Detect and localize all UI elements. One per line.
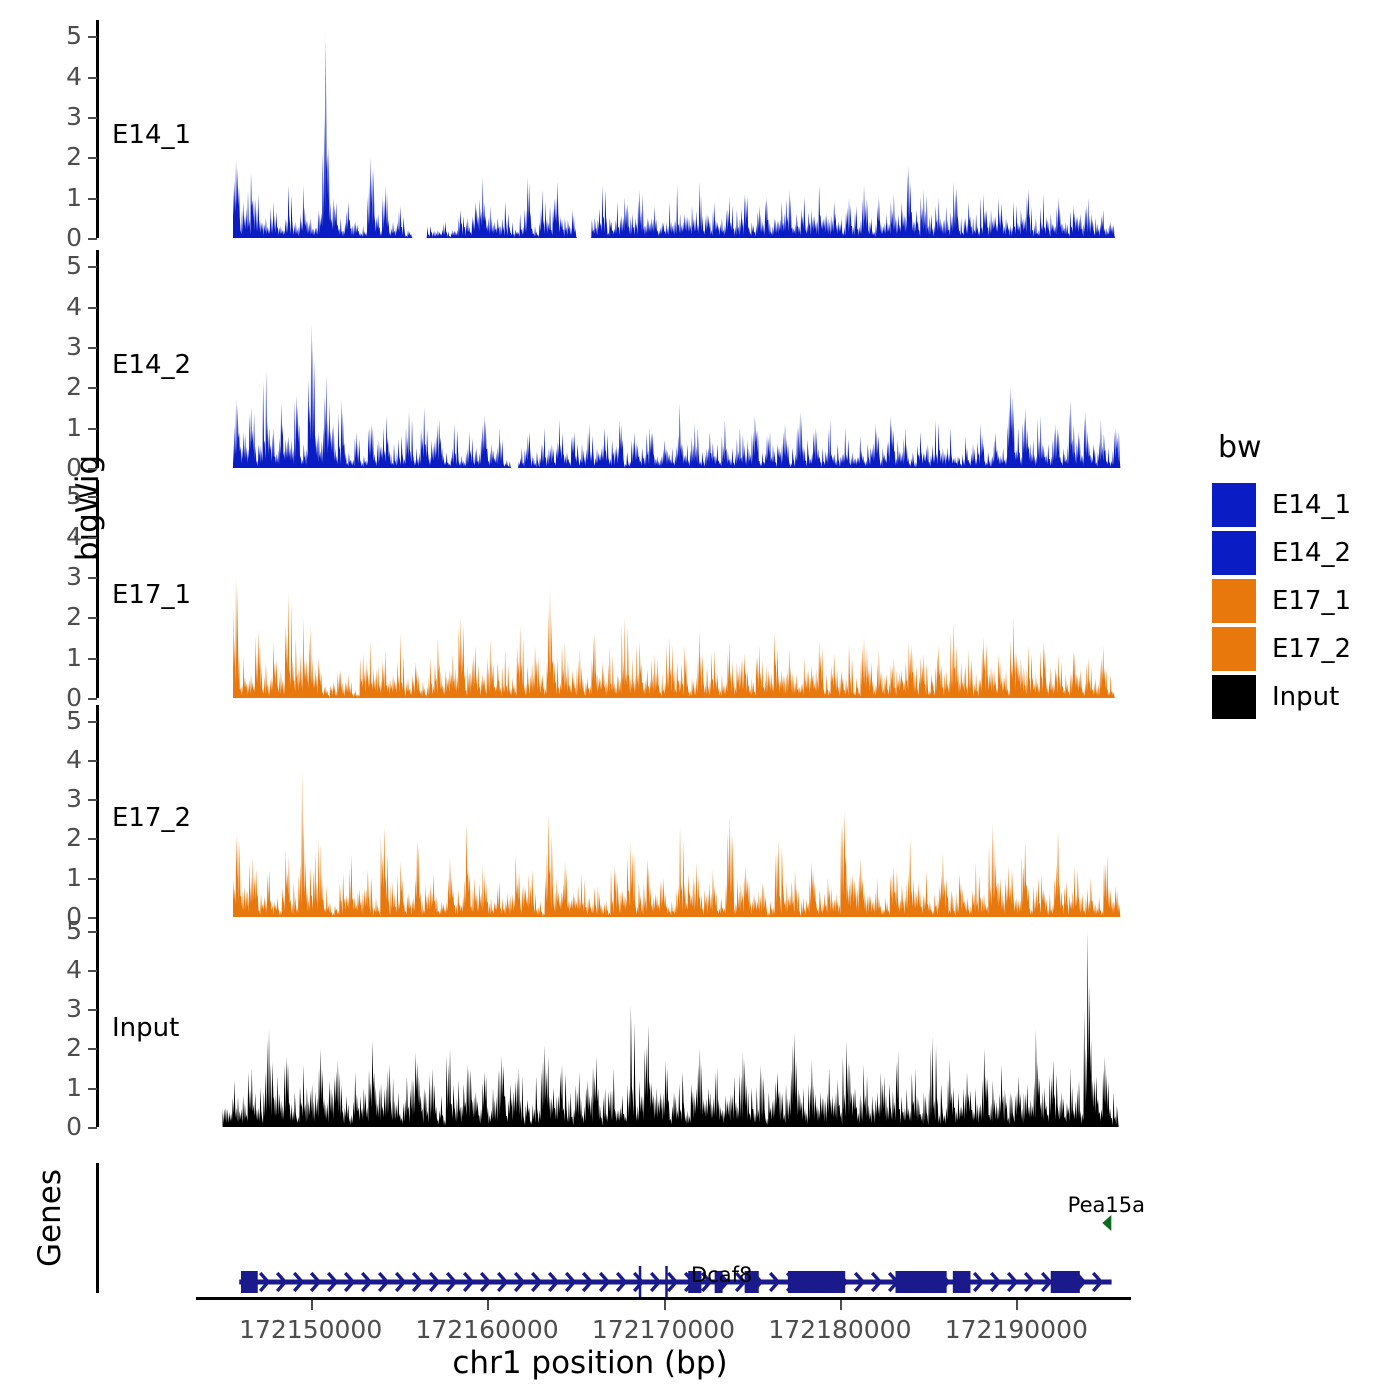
y-axis-tick-label: 4 — [42, 294, 82, 319]
y-axis-tick — [88, 577, 97, 579]
legend-label: E14_1 — [1272, 490, 1351, 520]
legend-swatch — [1212, 483, 1256, 527]
x-axis-tick — [664, 1300, 666, 1310]
legend: bw E14_1E14_2E17_1E17_2Input — [1212, 430, 1392, 721]
y-axis-tick — [88, 77, 97, 79]
track-panel-input: 012345Input — [0, 915, 1180, 1127]
y-axis-tick-label: 3 — [42, 564, 82, 589]
track-panel-e17_1: 012345E17_1 — [0, 480, 1180, 698]
gene-label-pea15a: Pea15a — [1068, 1193, 1145, 1217]
y-axis-tick — [88, 799, 97, 801]
x-axis-tick — [1016, 1300, 1018, 1310]
legend-title: bw — [1218, 430, 1392, 465]
x-axis-tick-label: 172180000 — [768, 1315, 911, 1344]
signal-area-e14_1 — [99, 20, 1180, 238]
y-axis-tick-label: 1 — [42, 185, 82, 210]
x-axis-tick-label: 172170000 — [592, 1315, 735, 1344]
y-axis-tick — [88, 698, 97, 700]
legend-swatch — [1212, 531, 1256, 575]
y-axis-tick-label: 2 — [42, 144, 82, 169]
legend-label: Input — [1272, 682, 1339, 712]
y-axis-tick-label: 0 — [42, 1114, 82, 1139]
genes-axis-line — [96, 1163, 99, 1293]
y-axis-tick — [88, 970, 97, 972]
legend-item-e17_1[interactable]: E17_1 — [1212, 577, 1392, 625]
track-panel-e14_2: 012345E14_2 — [0, 250, 1180, 468]
signal-area-e17_1 — [99, 480, 1180, 698]
y-axis-tick-label: 0 — [42, 225, 82, 250]
y-axis-tick-label: 5 — [42, 23, 82, 48]
y-axis-tick-label: 2 — [42, 825, 82, 850]
y-axis-tick-label: 1 — [42, 865, 82, 890]
y-axis-tick — [88, 157, 97, 159]
y-axis-tick-label: 4 — [42, 64, 82, 89]
gene-label-dcaf8: Dcaf8 — [691, 1263, 752, 1287]
y-axis-tick — [88, 878, 97, 880]
y-axis-tick-label: 1 — [42, 645, 82, 670]
y-axis-tick — [88, 428, 97, 430]
gene-annotation-panel: Dcaf8Pea15a — [0, 1155, 1180, 1300]
y-axis-tick — [88, 307, 97, 309]
gene-model-svg — [0, 1155, 1180, 1300]
y-axis-tick-label: 3 — [42, 996, 82, 1021]
legend-item-e17_2[interactable]: E17_2 — [1212, 625, 1392, 673]
x-axis-title: chr1 position (bp) — [0, 1345, 1180, 1381]
y-axis-tick-label: 3 — [42, 334, 82, 359]
y-axis-tick-label: 2 — [42, 1035, 82, 1060]
x-axis-tick-label: 172160000 — [416, 1315, 559, 1344]
y-axis-tick — [88, 347, 97, 349]
y-axis-tick — [88, 617, 97, 619]
y-axis-tick-label: 3 — [42, 104, 82, 129]
legend-label: E17_1 — [1272, 586, 1351, 616]
y-axis-tick-label: 0 — [42, 455, 82, 480]
legend-swatch — [1212, 579, 1256, 623]
y-axis-tick — [88, 838, 97, 840]
x-axis-tick — [487, 1300, 489, 1310]
y-axis-tick — [88, 1127, 97, 1129]
y-axis-tick — [88, 1088, 97, 1090]
y-axis-tick — [88, 266, 97, 268]
y-axis-tick — [88, 117, 97, 119]
y-axis-tick — [88, 1009, 97, 1011]
signal-area-e17_2 — [99, 705, 1180, 917]
y-axis-tick — [88, 36, 97, 38]
y-axis-tick-label: 5 — [42, 483, 82, 508]
y-axis-tick-label: 1 — [42, 1075, 82, 1100]
track-panel-e17_2: 012345E17_2 — [0, 705, 1180, 917]
legend-items: E14_1E14_2E17_1E17_2Input — [1212, 481, 1392, 721]
y-axis-tick-label: 4 — [42, 747, 82, 772]
y-axis-tick — [88, 537, 97, 539]
y-axis-tick — [88, 760, 97, 762]
y-axis-tick-label: 3 — [42, 786, 82, 811]
legend-swatch — [1212, 675, 1256, 719]
y-axis-tick-label: 5 — [42, 253, 82, 278]
y-axis-tick — [88, 387, 97, 389]
x-axis-tick-label: 172190000 — [945, 1315, 1088, 1344]
y-axis-tick — [88, 1048, 97, 1050]
legend-label: E14_2 — [1272, 538, 1351, 568]
x-axis-tick-label: 172150000 — [239, 1315, 382, 1344]
x-axis-tick — [840, 1300, 842, 1310]
legend-label: E17_2 — [1272, 634, 1351, 664]
y-axis-tick — [88, 721, 97, 723]
signal-area-input — [99, 915, 1180, 1127]
y-axis-tick — [88, 496, 97, 498]
legend-item-e14_1[interactable]: E14_1 — [1212, 481, 1392, 529]
legend-item-input[interactable]: Input — [1212, 673, 1392, 721]
x-axis-tick — [311, 1300, 313, 1310]
signal-area-e14_2 — [99, 250, 1180, 468]
y-axis-tick-label: 4 — [42, 524, 82, 549]
y-axis-tick — [88, 468, 97, 470]
y-axis-tick — [88, 658, 97, 660]
y-axis-tick-label: 5 — [42, 918, 82, 943]
y-axis-tick-label: 2 — [42, 604, 82, 629]
y-axis-tick — [88, 931, 97, 933]
legend-item-e14_2[interactable]: E14_2 — [1212, 529, 1392, 577]
track-panel-e14_1: 012345E14_1 — [0, 20, 1180, 238]
y-axis-tick — [88, 238, 97, 240]
y-axis-tick-label: 2 — [42, 374, 82, 399]
y-axis-tick-label: 1 — [42, 415, 82, 440]
y-axis-tick — [88, 198, 97, 200]
legend-swatch — [1212, 627, 1256, 671]
y-axis-tick-label: 4 — [42, 957, 82, 982]
y-axis-tick-label: 5 — [42, 708, 82, 733]
